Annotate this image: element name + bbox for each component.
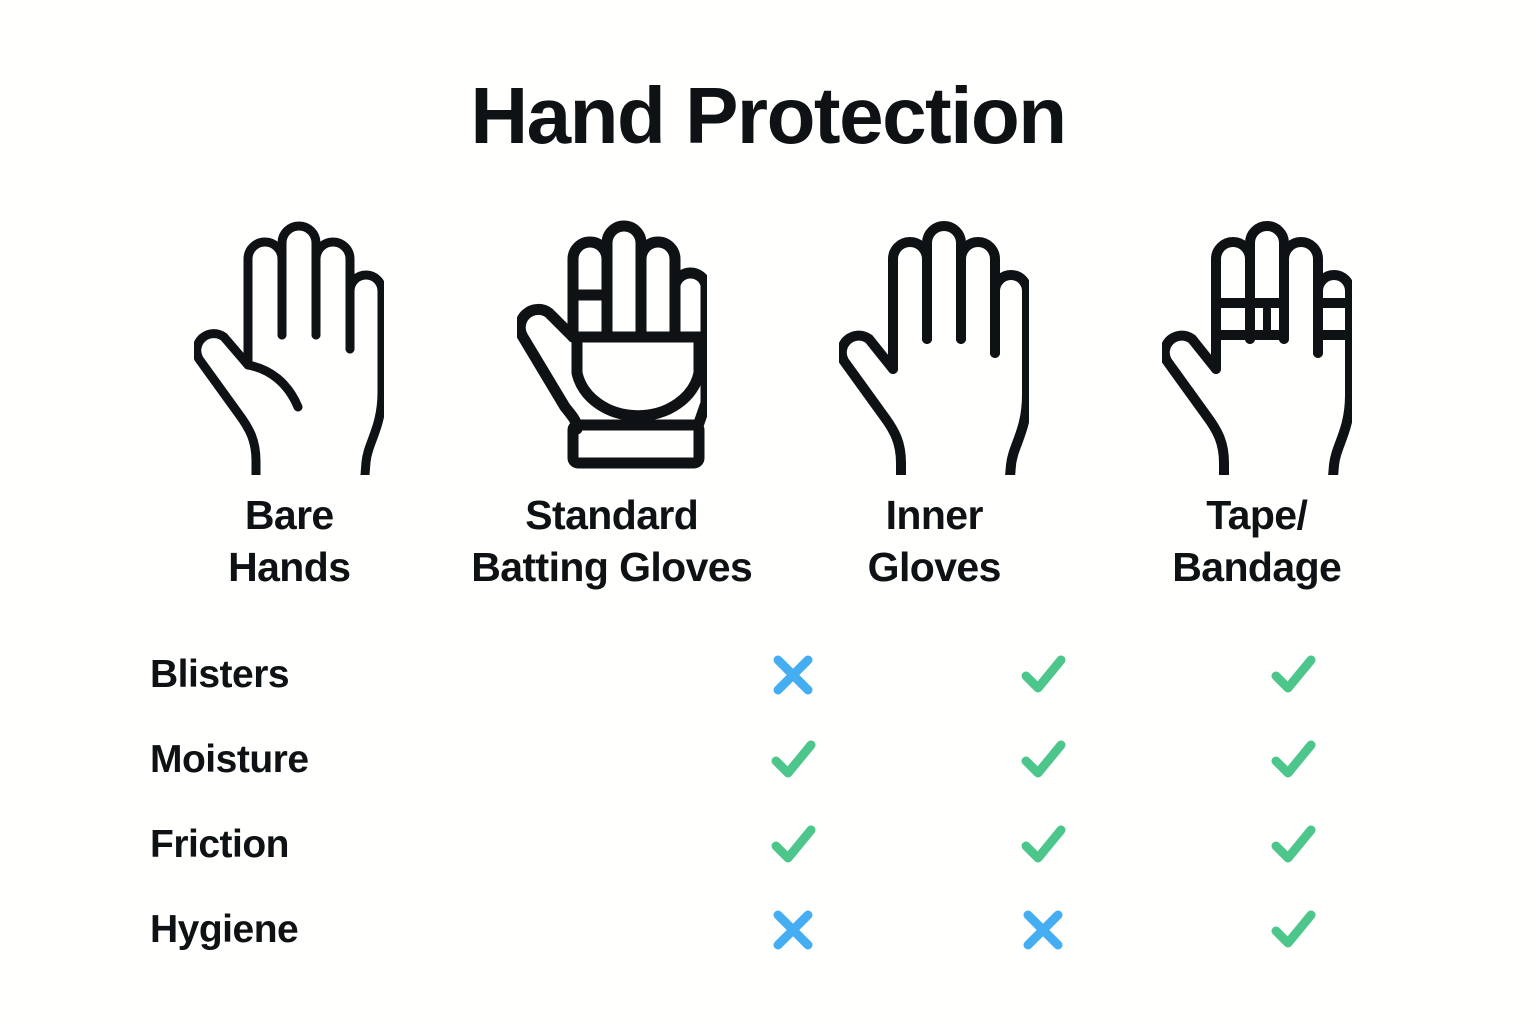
mark-none bbox=[517, 734, 569, 786]
cell-friction-batting-gloves bbox=[668, 802, 918, 887]
cross-icon bbox=[767, 904, 819, 956]
cell-friction-bare-hands bbox=[418, 802, 668, 887]
bare-hand-icon bbox=[189, 210, 389, 475]
cell-blisters-bare-hands bbox=[418, 632, 668, 717]
column-label-batting-gloves: Standard Batting Gloves bbox=[471, 489, 752, 593]
page-title: Hand Protection bbox=[0, 68, 1536, 164]
hand-protection-infographic: Hand Protection bbox=[0, 0, 1536, 1024]
check-icon bbox=[1267, 734, 1319, 786]
check-icon bbox=[1267, 904, 1319, 956]
table-row: Moisture bbox=[128, 717, 1418, 802]
column-label-bare-hands: Bare Hands bbox=[228, 489, 350, 593]
cell-moisture-bare-hands bbox=[418, 717, 668, 802]
cell-hygiene-batting-gloves bbox=[668, 887, 918, 972]
mark-none bbox=[517, 649, 569, 701]
column-bare-hands: Bare Hands bbox=[128, 210, 451, 593]
row-label-friction: Friction bbox=[128, 823, 418, 867]
batting-glove-icon bbox=[512, 210, 712, 475]
cell-friction-inner-gloves bbox=[918, 802, 1168, 887]
column-label-tape-bandage: Tape/ Bandage bbox=[1172, 489, 1341, 593]
row-label-moisture: Moisture bbox=[128, 738, 418, 782]
table-row: Friction bbox=[128, 802, 1418, 887]
check-icon bbox=[1017, 649, 1069, 701]
column-batting-gloves: Standard Batting Gloves bbox=[451, 210, 774, 593]
cell-moisture-batting-gloves bbox=[668, 717, 918, 802]
check-icon bbox=[767, 819, 819, 871]
cell-blisters-tape-bandage bbox=[1168, 632, 1418, 717]
row-label-hygiene: Hygiene bbox=[128, 908, 418, 952]
cell-moisture-tape-bandage bbox=[1168, 717, 1418, 802]
cell-blisters-inner-gloves bbox=[918, 632, 1168, 717]
check-icon bbox=[1017, 734, 1069, 786]
check-icon bbox=[1017, 819, 1069, 871]
cell-hygiene-inner-gloves bbox=[918, 887, 1168, 972]
check-icon bbox=[767, 734, 819, 786]
tape-bandage-icon bbox=[1157, 210, 1357, 475]
column-tape-bandage: Tape/ Bandage bbox=[1096, 210, 1419, 593]
column-label-inner-gloves: Inner Gloves bbox=[868, 489, 1001, 593]
cell-hygiene-bare-hands bbox=[418, 887, 668, 972]
table-row: Hygiene bbox=[128, 887, 1418, 972]
cell-moisture-inner-gloves bbox=[918, 717, 1168, 802]
row-label-blisters: Blisters bbox=[128, 653, 418, 697]
check-icon bbox=[1267, 649, 1319, 701]
cross-icon bbox=[767, 649, 819, 701]
table-row: Blisters bbox=[128, 632, 1418, 717]
cross-icon bbox=[1017, 904, 1069, 956]
mark-none bbox=[517, 819, 569, 871]
cell-friction-tape-bandage bbox=[1168, 802, 1418, 887]
cell-blisters-batting-gloves bbox=[668, 632, 918, 717]
comparison-grid: Blisters Moisture bbox=[128, 632, 1418, 972]
column-header-row: Bare Hands bbox=[128, 210, 1418, 593]
mark-none bbox=[517, 904, 569, 956]
check-icon bbox=[1267, 819, 1319, 871]
inner-glove-icon bbox=[834, 210, 1034, 475]
cell-hygiene-tape-bandage bbox=[1168, 887, 1418, 972]
column-inner-gloves: Inner Gloves bbox=[773, 210, 1096, 593]
